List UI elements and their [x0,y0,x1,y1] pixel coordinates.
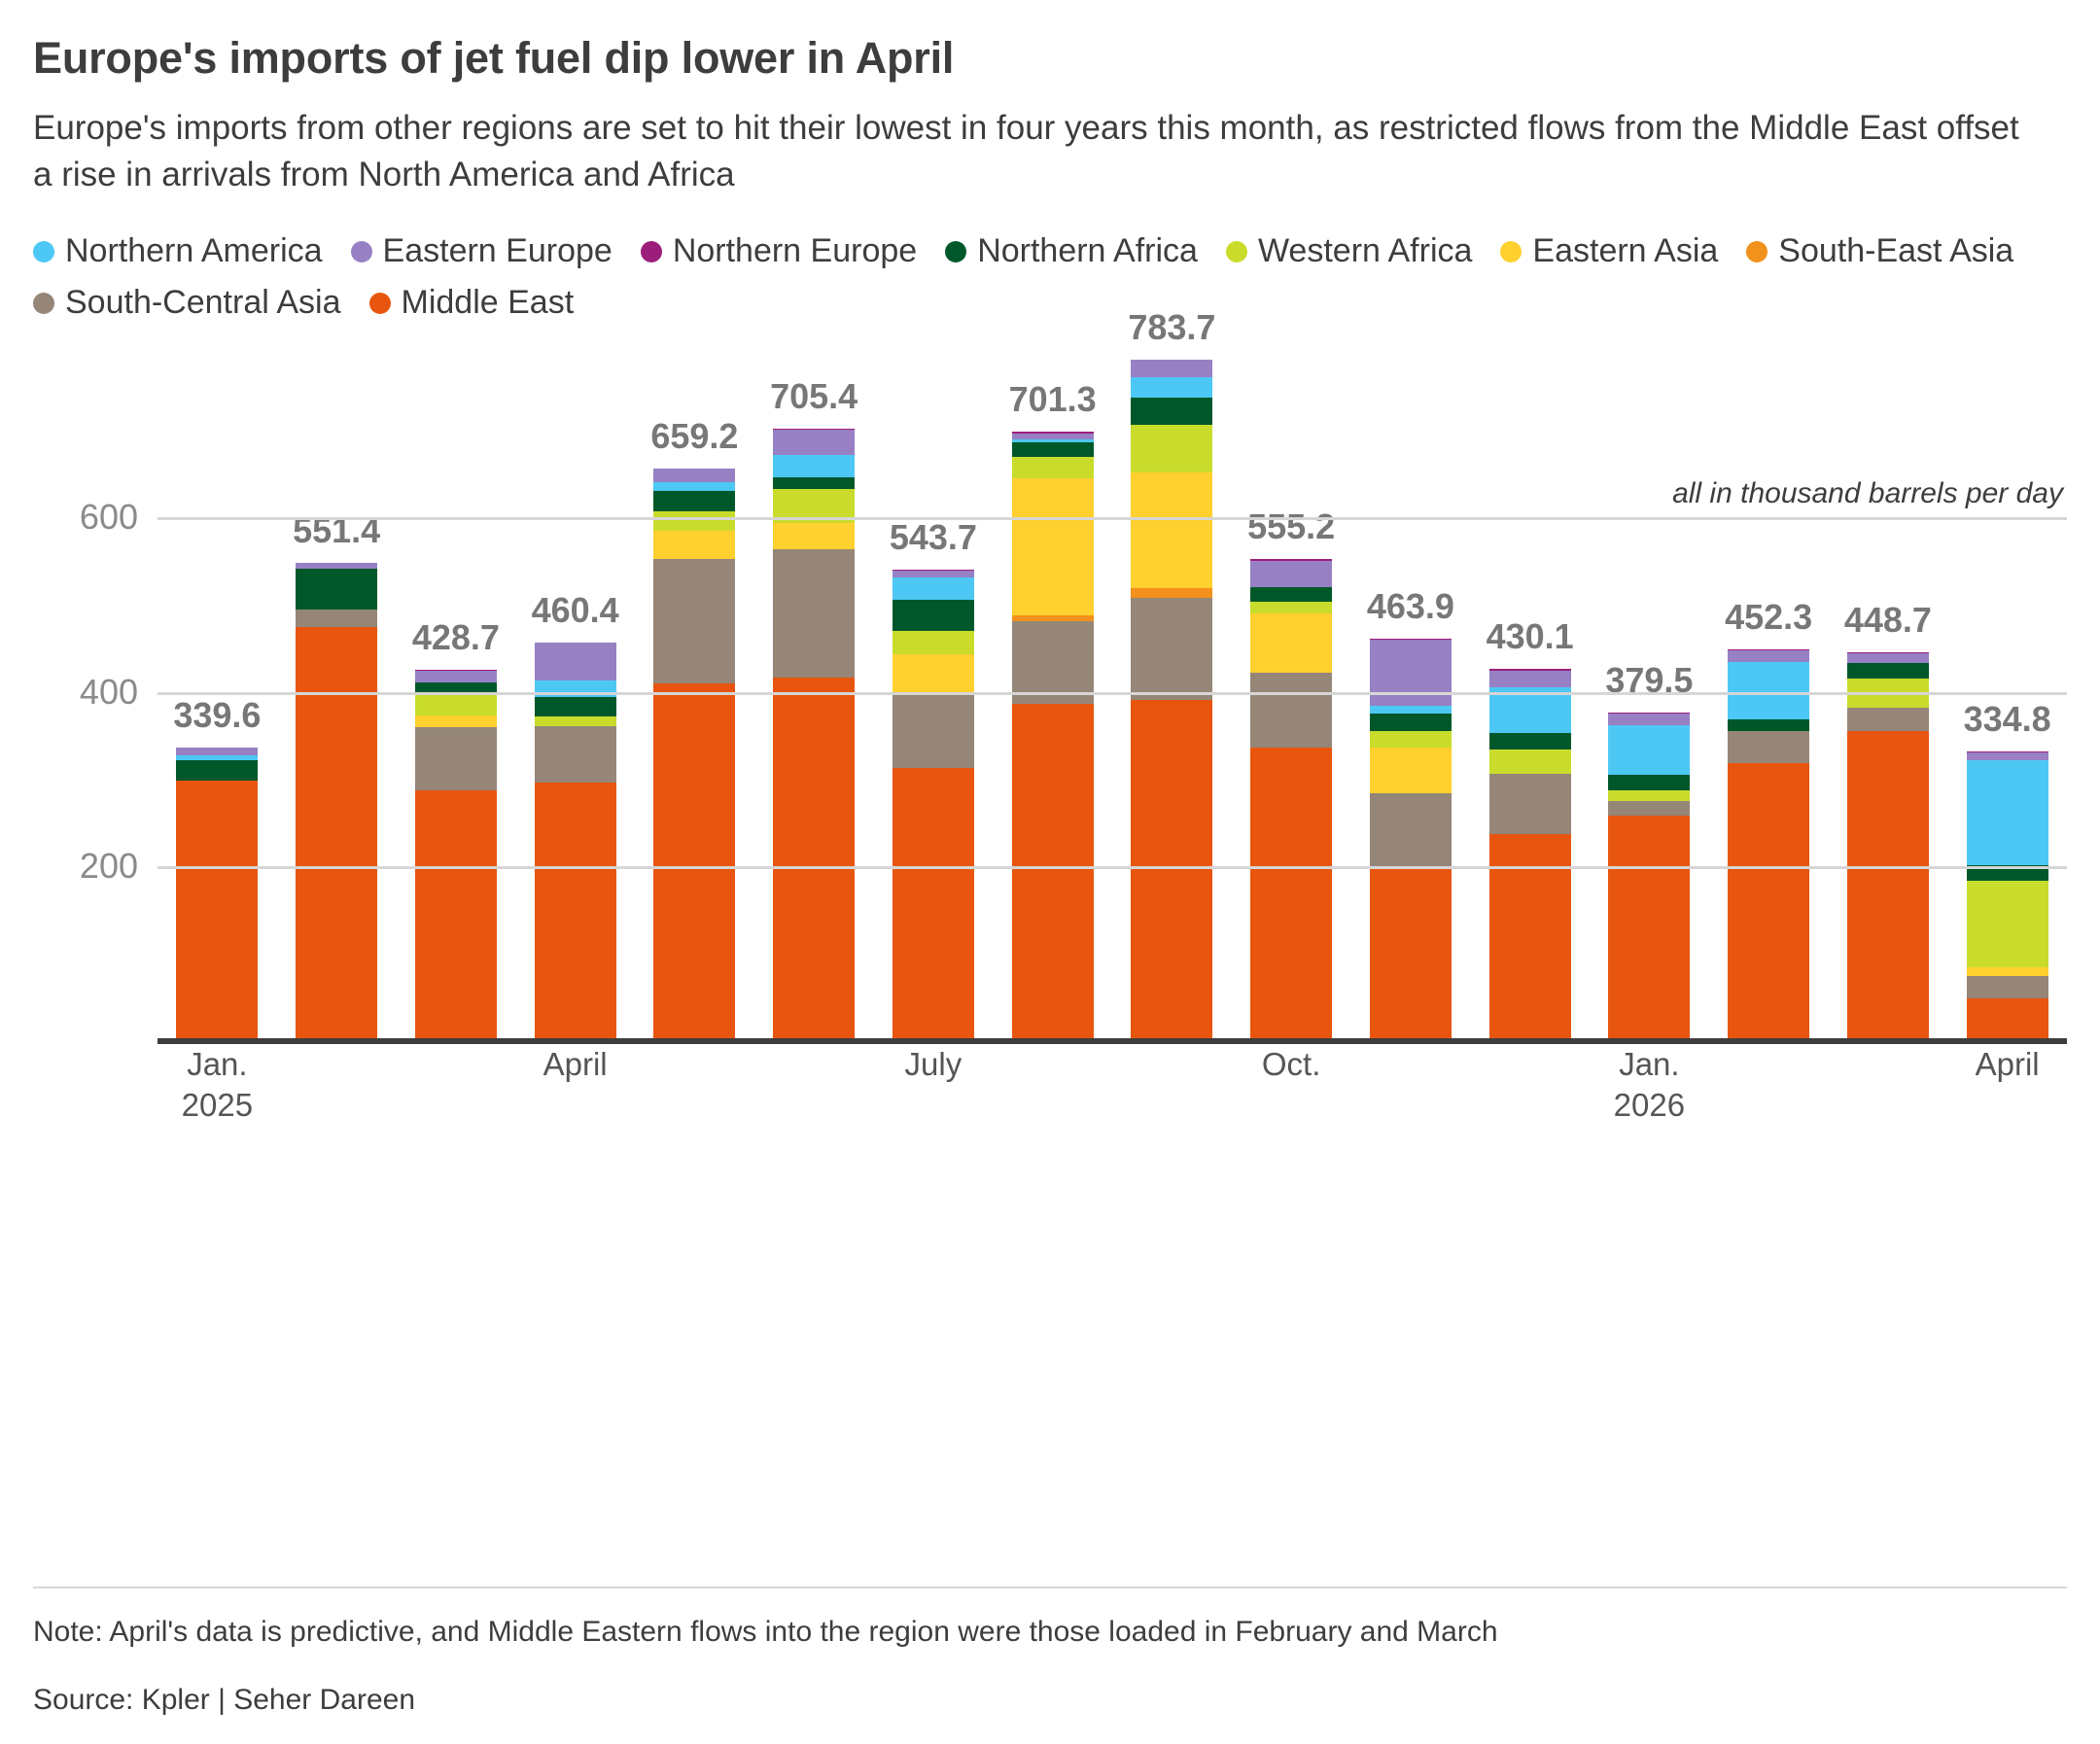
legend-label: Northern Africa [977,232,1198,269]
bar-column[interactable]: 379.5 [1590,346,1709,1044]
x-axis-tick: Oct. [1232,1044,1351,1104]
x-axis-tick [1709,1044,1829,1104]
bar-segment[interactable] [296,569,377,610]
chart-legend: Northern AmericaEastern EuropeNorthern E… [33,226,2067,328]
bar-segment[interactable] [1608,790,1690,802]
bar-segment[interactable] [1131,425,1212,471]
bar-total-label: 783.7 [1128,307,1215,348]
bar-column[interactable]: 551.4 [277,346,397,1044]
bar-total-label: 339.6 [173,695,261,736]
bar-segment[interactable] [1489,750,1571,773]
bar-segment[interactable] [535,680,616,698]
x-axis-tick: Jan.2025 [157,1044,277,1104]
y-axis-tick-label: 200 [80,846,138,887]
x-axis-tick [1470,1044,1590,1104]
stacked-bar[interactable] [1608,713,1690,1044]
bar-segment[interactable] [1250,602,1332,614]
plot-area: 339.6551.4428.7460.4659.2705.4543.7701.3… [157,346,2067,1044]
x-axis-tick-month: Jan. [157,1044,277,1085]
bar-segment[interactable] [1967,752,2048,760]
bar-total-label: 428.7 [412,617,500,658]
x-axis-tick-month: Jan. [1590,1044,1709,1085]
bar-segment[interactable] [415,693,497,715]
bar-segment[interactable] [892,768,974,1044]
bar-segment[interactable] [1608,801,1690,816]
bar-segment[interactable] [1608,725,1690,775]
bar-segment[interactable] [415,671,497,682]
x-axis-tick-month: April [1947,1044,2067,1085]
bar-total-label: 460.4 [532,590,619,631]
legend-item[interactable]: Western Africa [1226,226,1472,277]
bar-segment[interactable] [653,511,735,531]
bar-total-label: 379.5 [1605,660,1693,701]
bar-segment[interactable] [176,781,258,1044]
bar-column[interactable]: 543.7 [874,346,994,1044]
chart-page: Europe's imports of jet fuel dip lower i… [0,0,2100,1744]
legend-dot-icon [1226,241,1247,262]
legend-label: Northern Europe [673,232,917,269]
x-axis-ticks: Jan.2025AprilJulyOct.Jan.2026April [157,1044,2067,1104]
bar-segment[interactable] [535,643,616,680]
bar-segment[interactable] [653,469,735,482]
bar-segment[interactable] [773,549,855,678]
bar-segment[interactable] [1847,653,1929,664]
bar-segment[interactable] [1967,760,2048,865]
x-axis-tick [993,1044,1112,1104]
bar-segment[interactable] [773,678,855,1044]
legend-dot-icon [351,241,372,262]
stacked-bar[interactable] [1131,360,1212,1043]
legend-item[interactable]: Middle East [369,277,575,329]
bar-column[interactable]: 705.4 [754,346,874,1044]
stacked-bar[interactable] [1967,751,2048,1043]
bar-segment[interactable] [296,627,377,1044]
legend-dot-icon [1500,241,1522,262]
bar-segment[interactable] [1250,613,1332,673]
bar-total-label: 430.1 [1487,616,1574,657]
y-gridline: 400 [157,692,2067,695]
bar-segment[interactable] [296,610,377,627]
bar-total-label: 463.9 [1367,586,1454,627]
chart-area: 339.6551.4428.7460.4659.2705.4543.7701.3… [33,346,2067,1104]
y-axis-tick-label: 600 [80,497,138,538]
legend-label: South-East Asia [1778,232,2013,269]
x-axis-tick [277,1044,397,1104]
bar-segment[interactable] [1131,700,1212,1044]
bar-segment[interactable] [1131,377,1212,398]
bar-segment[interactable] [1131,598,1212,700]
bar-column[interactable]: 555.2 [1232,346,1351,1044]
chart-note: Note: April's data is predictive, and Mi… [33,1616,2067,1649]
bar-total-label: 448.7 [1844,600,1932,641]
x-axis-tick [1829,1044,1948,1104]
legend-dot-icon [945,241,966,262]
bar-segment[interactable] [773,523,855,549]
bar-total-label: 452.3 [1725,597,1812,638]
bar-total-label: 659.2 [650,416,738,457]
bar-segment[interactable] [1370,731,1452,747]
bar-segment[interactable] [1131,472,1212,588]
stacked-bar[interactable] [415,670,497,1044]
legend-label: Western Africa [1258,232,1472,269]
legend-label: Eastern Europe [383,232,612,269]
legend-dot-icon [641,241,662,262]
footer-divider [33,1587,2067,1588]
bar-segment[interactable] [1012,704,1094,1044]
bar-total-label: 705.4 [770,376,857,417]
bar-segment[interactable] [176,748,258,755]
bar-column[interactable]: 783.7 [1112,346,1232,1044]
bar-segment[interactable] [1728,731,1809,763]
bar-column[interactable]: 334.8 [1947,346,2067,1044]
bar-segment[interactable] [535,726,616,783]
bar-segment[interactable] [415,727,497,791]
legend-item[interactable]: South-Central Asia [33,277,341,329]
bar-segment[interactable] [535,716,616,726]
bar-segment[interactable] [653,482,735,491]
legend-item[interactable]: Northern America [33,226,323,277]
bar-segment[interactable] [1608,775,1690,789]
bar-segment[interactable] [1967,998,2048,1044]
x-axis-tick: April [1947,1044,2067,1104]
bar-segment[interactable] [1847,663,1929,678]
bar-segment[interactable] [1728,763,1809,1044]
bar-segment[interactable] [892,654,974,692]
bar-segment[interactable] [1370,793,1452,868]
bar-column[interactable]: 448.7 [1829,346,1948,1044]
x-axis-tick [754,1044,874,1104]
x-axis-tick [1112,1044,1232,1104]
bar-segment[interactable] [892,600,974,631]
legend-item[interactable]: South-East Asia [1746,226,2013,277]
bar-segment[interactable] [653,531,735,559]
bar-segment[interactable] [1728,650,1809,662]
bar-segment[interactable] [892,631,974,653]
bar-segment[interactable] [1728,719,1809,731]
bar-segment[interactable] [535,697,616,716]
stacked-bar[interactable] [535,643,616,1044]
y-gridline: 600 [157,517,2067,520]
bar-segment[interactable] [653,559,735,683]
bar-segment[interactable] [1012,442,1094,456]
bar-segment[interactable] [892,692,974,768]
stacked-bar[interactable] [1489,669,1571,1044]
bar-column[interactable]: 701.3 [993,346,1112,1044]
bar-column[interactable]: 339.6 [157,346,277,1044]
legend-item[interactable]: Northern Europe [641,226,917,277]
bar-segment[interactable] [1370,748,1452,794]
legend-dot-icon [1746,241,1767,262]
bar-segment[interactable] [1967,967,2048,976]
bar-segment[interactable] [1012,478,1094,615]
bar-segment[interactable] [1967,976,2048,998]
x-axis-tick-month: July [874,1044,994,1085]
bar-segment[interactable] [1489,671,1571,687]
bar-segment[interactable] [892,577,974,600]
y-gridline: 200 [157,866,2067,869]
bar-segment[interactable] [1370,868,1452,1043]
bar-segment[interactable] [415,715,497,727]
bar-segment[interactable] [653,683,735,1044]
legend-label: South-Central Asia [65,284,341,321]
stacked-bar[interactable] [1250,559,1332,1043]
bar-segment[interactable] [1728,662,1809,719]
bar-column[interactable]: 659.2 [635,346,754,1044]
legend-label: Northern America [65,232,323,269]
bar-column[interactable]: 430.1 [1470,346,1590,1044]
x-axis-tick: Jan.2026 [1590,1044,1709,1104]
page-title: Europe's imports of jet fuel dip lower i… [33,0,2067,84]
x-axis-tick: April [515,1044,635,1104]
bar-column[interactable]: 452.3 [1709,346,1829,1044]
bar-total-label: 551.4 [293,510,380,551]
bar-column[interactable]: 460.4 [515,346,635,1044]
bar-segment[interactable] [1370,714,1452,732]
bar-segment[interactable] [535,783,616,1043]
legend-label: Middle East [402,284,575,321]
x-axis-tick [1351,1044,1471,1104]
bar-segment[interactable] [415,790,497,1043]
bar-series-group: 339.6551.4428.7460.4659.2705.4543.7701.3… [157,346,2067,1044]
bar-segment[interactable] [773,430,855,454]
legend-label: Eastern Asia [1532,232,1718,269]
page-subtitle: Europe's imports from other regions are … [33,105,2036,199]
legend-dot-icon [33,293,54,314]
legend-dot-icon [369,293,391,314]
stacked-bar[interactable] [1370,639,1452,1043]
bar-segment[interactable] [1847,708,1929,730]
bar-segment[interactable] [1489,774,1571,835]
units-note: all in thousand barrels per day [1672,477,2063,510]
bar-total-label: 543.7 [890,517,977,558]
bar-segment[interactable] [1370,706,1452,714]
stacked-bar[interactable] [1012,432,1094,1043]
stacked-bar[interactable] [773,429,855,1044]
bar-segment[interactable] [1489,733,1571,750]
bar-segment[interactable] [1250,561,1332,587]
bar-total-label: 555.2 [1247,506,1335,547]
bar-column[interactable]: 463.9 [1351,346,1471,1044]
stacked-bar[interactable] [1728,649,1809,1044]
bar-segment[interactable] [1250,673,1332,748]
bar-segment[interactable] [773,455,855,477]
x-axis-tick [397,1044,516,1104]
bar-segment[interactable] [1131,360,1212,377]
bar-segment[interactable] [1370,640,1452,705]
bar-segment[interactable] [1967,881,2048,967]
legend-dot-icon [33,241,54,262]
legend-item[interactable]: Eastern Europe [351,226,612,277]
x-axis-tick [635,1044,754,1104]
stacked-bar[interactable] [1847,652,1929,1044]
bar-segment[interactable] [1131,588,1212,598]
bar-segment[interactable] [1608,816,1690,1043]
stacked-bar[interactable] [653,469,735,1044]
stacked-bar[interactable] [296,563,377,1044]
x-axis-tick-month: Oct. [1232,1044,1351,1085]
bar-segment[interactable] [1608,714,1690,725]
stacked-bar[interactable] [176,748,258,1044]
y-axis-tick-label: 400 [80,672,138,713]
bar-total-label: 701.3 [1009,379,1097,420]
bar-segment[interactable] [892,571,974,577]
x-axis-tick-year: 2026 [1590,1085,1709,1126]
bar-segment[interactable] [653,491,735,512]
bar-column[interactable]: 428.7 [397,346,516,1044]
x-axis-tick-month: April [515,1044,635,1085]
bar-segment[interactable] [1250,748,1332,1043]
x-axis-tick-year: 2025 [157,1085,277,1126]
legend-item[interactable]: Eastern Asia [1500,226,1718,277]
bar-total-label: 334.8 [1964,699,2051,740]
bar-segment[interactable] [1250,587,1332,601]
stacked-bar[interactable] [892,570,974,1044]
bar-segment[interactable] [1131,398,1212,426]
bar-segment[interactable] [176,760,258,781]
x-axis-tick: July [874,1044,994,1104]
legend-item[interactable]: Northern Africa [945,226,1198,277]
chart-footer: Note: April's data is predictive, and Mi… [33,1587,2067,1717]
bar-segment[interactable] [773,477,855,489]
chart-source: Source: Kpler | Seher Dareen [33,1684,2067,1717]
bar-segment[interactable] [1847,731,1929,1044]
bar-segment[interactable] [1012,457,1094,478]
